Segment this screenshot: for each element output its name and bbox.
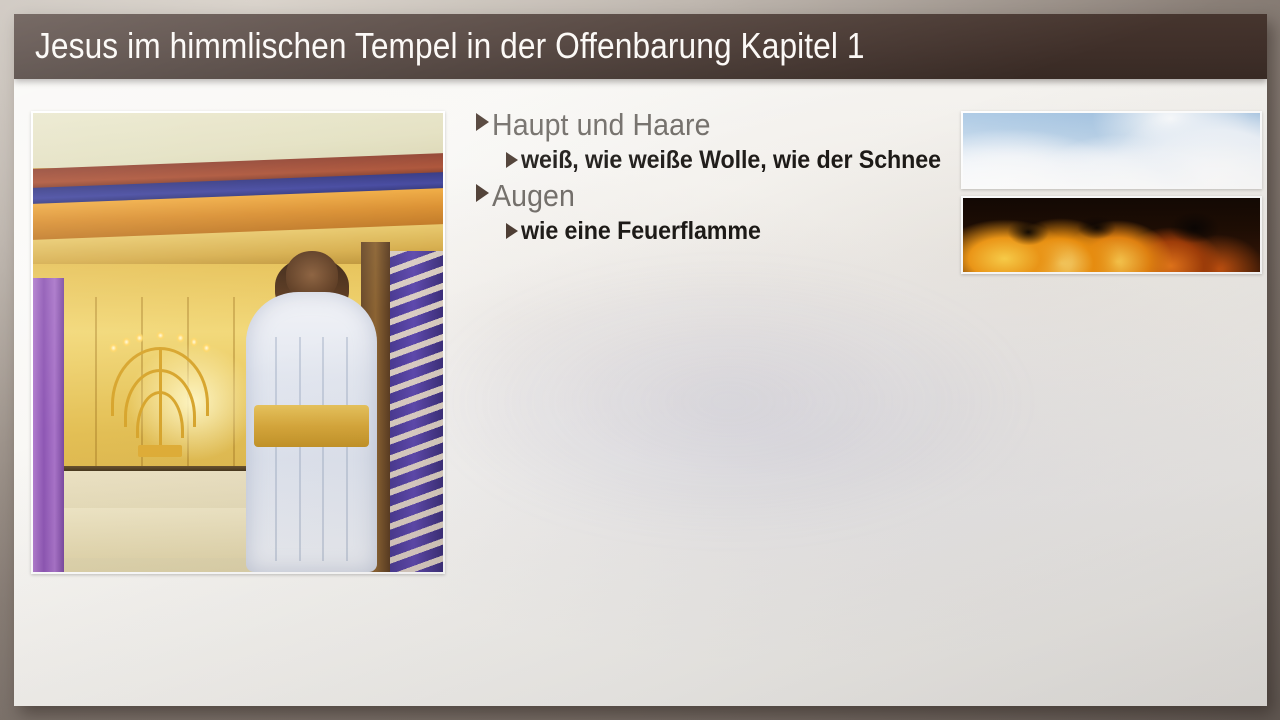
jesus-figure — [246, 251, 377, 572]
bullet-level2-label: wie eine Feuerflamme — [521, 216, 779, 246]
bullet-level1: Haupt und Haare — [476, 106, 956, 144]
slide-frame: Jesus im himmlischen Tempel in der Offen… — [0, 0, 1280, 720]
slide-title-bar: Jesus im himmlischen Tempel in der Offen… — [14, 14, 1267, 79]
triangle-bullet-icon — [506, 223, 518, 239]
bullet-level2-label: weiß, wie weiße Wolle, wie der Schnee — [521, 145, 973, 175]
snow-photo-inner — [963, 113, 1260, 187]
jesus-golden-sash — [254, 405, 369, 447]
bullet-level1-label: Haupt und Haare — [492, 106, 730, 144]
menorah-flame — [156, 331, 165, 341]
menorah-flame — [109, 343, 118, 353]
menorah-icon — [111, 320, 209, 458]
fire-photo — [961, 196, 1262, 274]
menorah-stem — [159, 350, 162, 457]
menorah-flame — [135, 333, 144, 343]
bullet-level2: wie eine Feuerflamme — [506, 216, 956, 246]
snow-photo — [961, 111, 1262, 189]
content-bullet-list: Haupt und Haare weiß, wie weiße Wolle, w… — [476, 106, 956, 248]
robe-fold — [275, 337, 277, 561]
bullet-level1-label: Augen — [492, 177, 582, 215]
menorah-flame — [122, 337, 131, 347]
robe-fold — [322, 337, 324, 561]
bullet-level1: Augen — [476, 177, 956, 215]
triangle-bullet-icon — [476, 184, 489, 202]
menorah-flame — [190, 337, 199, 347]
fire-photo-image — [963, 198, 1260, 272]
page-title: Jesus im himmlischen Tempel in der Offen… — [35, 25, 978, 67]
triangle-bullet-icon — [476, 113, 489, 131]
temple-curtain-left — [33, 278, 64, 572]
robe-fold — [299, 337, 301, 561]
triangle-bullet-icon — [506, 152, 518, 168]
menorah-flame — [202, 343, 211, 353]
menorah-base — [138, 445, 181, 457]
menorah-flame — [176, 333, 185, 343]
robe-fold — [346, 337, 348, 561]
temple-illustration — [31, 111, 445, 574]
fire-photo-inner — [963, 198, 1260, 272]
snow-photo-image — [963, 113, 1260, 187]
temple-curtain-right — [390, 251, 443, 572]
temple-illustration-canvas — [33, 113, 443, 572]
bullet-level2: weiß, wie weiße Wolle, wie der Schnee — [506, 145, 956, 175]
slide-canvas: Jesus im himmlischen Tempel in der Offen… — [14, 14, 1267, 706]
